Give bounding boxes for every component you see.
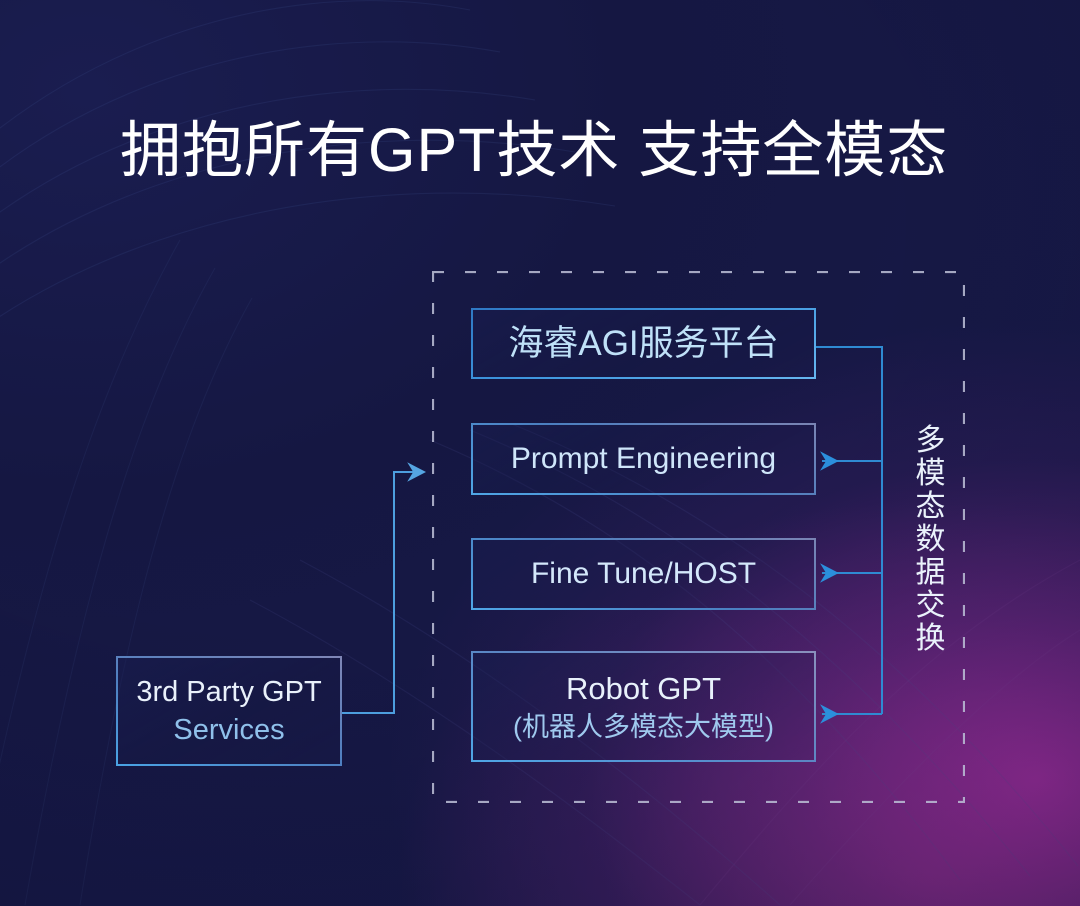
vertical-caption-char: 据: [909, 556, 953, 589]
vertical-caption-char: 交: [909, 589, 953, 622]
node-prompt-engineering-label: Prompt Engineering: [511, 440, 776, 478]
vertical-caption-char: 数: [909, 523, 953, 556]
vertical-caption-char: 态: [909, 490, 953, 523]
vertical-caption-multimodal-data-exchange: 多 模 态 数 据 交 换: [909, 424, 953, 655]
node-prompt-engineering[interactable]: Prompt Engineering: [471, 423, 816, 495]
node-robot-gpt-sublabel: (机器人多模态大模型): [513, 709, 774, 745]
vertical-caption-char: 模: [909, 457, 953, 490]
node-third-party-gpt-sublabel: Services: [173, 711, 284, 749]
node-agi-platform-label: 海睿AGI服务平台: [508, 323, 778, 365]
node-third-party-gpt[interactable]: 3rd Party GPT Services: [116, 656, 342, 766]
node-robot-gpt[interactable]: Robot GPT (机器人多模态大模型): [471, 651, 816, 762]
node-fine-tune-host[interactable]: Fine Tune/HOST: [471, 538, 816, 610]
node-third-party-gpt-label: 3rd Party GPT: [136, 673, 321, 711]
slide-canvas: 拥抱所有GPT技术 支持全模态 海: [0, 0, 1080, 906]
vertical-caption-char: 换: [909, 622, 953, 655]
node-fine-tune-host-label: Fine Tune/HOST: [531, 555, 756, 593]
node-agi-platform[interactable]: 海睿AGI服务平台: [471, 308, 816, 379]
node-robot-gpt-label: Robot GPT: [566, 669, 721, 709]
vertical-caption-char: 多: [909, 424, 953, 457]
